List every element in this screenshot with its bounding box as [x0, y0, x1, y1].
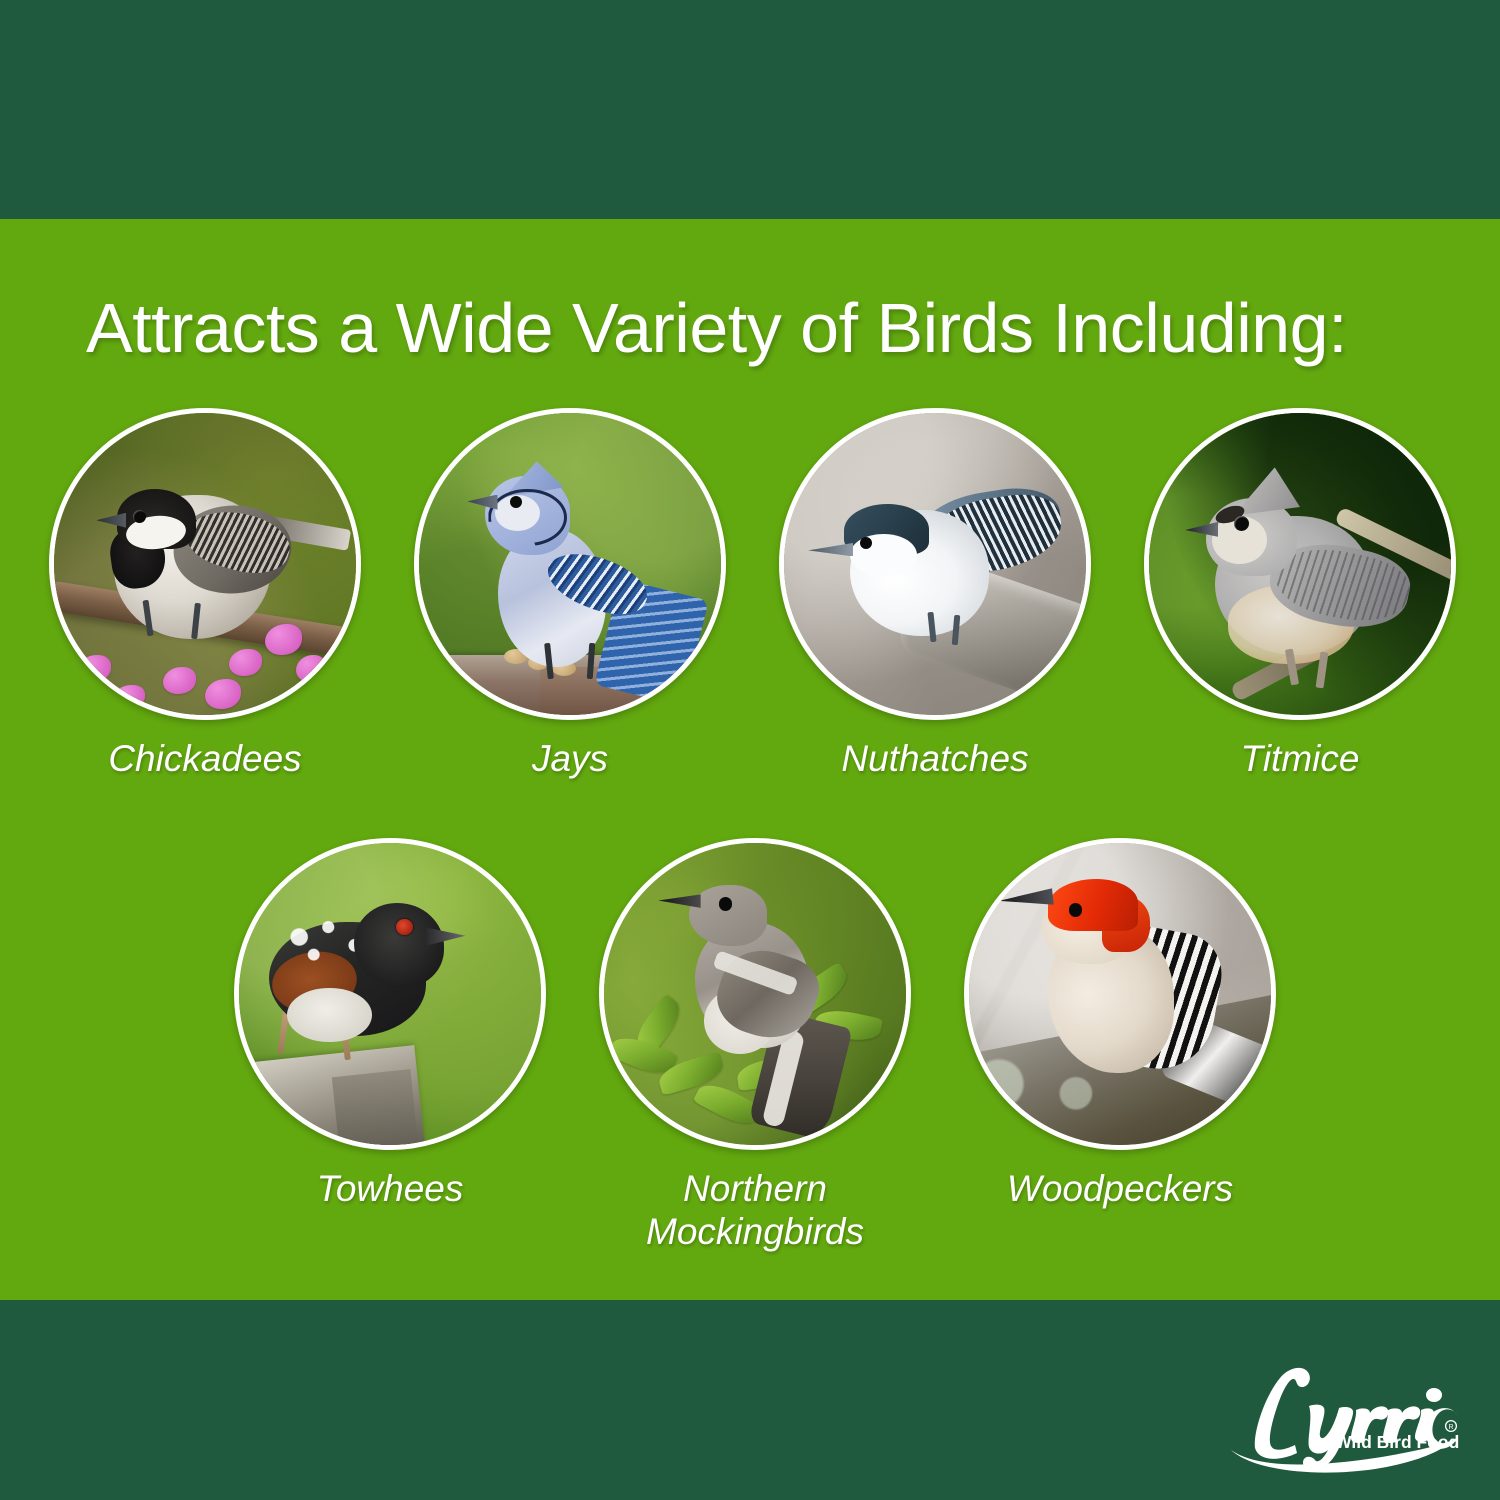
- mockingbird-label-line2: Mockingbirds: [646, 1211, 864, 1252]
- woodpecker-photo: [969, 843, 1271, 1145]
- chickadee-photo: [54, 413, 356, 715]
- bird-card-nuthatches: Nuthatches: [770, 408, 1100, 781]
- titmouse-photo: [1149, 413, 1451, 715]
- bird-label-woodpeckers: Woodpeckers: [955, 1168, 1285, 1211]
- bird-card-titmice: Titmice: [1135, 408, 1465, 781]
- bird-card-chickadees: Chickadees: [40, 408, 370, 781]
- chickadee-circle: [49, 408, 361, 720]
- towhee-photo: [239, 843, 541, 1145]
- mockingbird-photo: [604, 843, 906, 1145]
- bird-label-mockingbirds: NorthernMockingbirds: [590, 1168, 920, 1254]
- nuthatch-photo: [784, 413, 1086, 715]
- bird-label-jays: Jays: [405, 738, 735, 781]
- bird-label-titmice: Titmice: [1135, 738, 1465, 781]
- bird-label-nuthatches: Nuthatches: [770, 738, 1100, 781]
- nuthatch-circle: [779, 408, 1091, 720]
- blue-jay-circle: [414, 408, 726, 720]
- bird-grid: Chickadees: [0, 0, 1500, 1500]
- bird-card-jays: Jays: [405, 408, 735, 781]
- bird-card-mockingbirds: NorthernMockingbirds: [590, 838, 920, 1254]
- product-infographic: Attracts a Wide Variety of Birds Includi…: [0, 0, 1500, 1500]
- towhee-circle: [234, 838, 546, 1150]
- mockingbird-label-line1: Northern: [683, 1168, 827, 1209]
- bird-label-towhees: Towhees: [225, 1168, 555, 1211]
- titmouse-circle: [1144, 408, 1456, 720]
- woodpecker-circle: [964, 838, 1276, 1150]
- bird-label-chickadees: Chickadees: [40, 738, 370, 781]
- svg-text:R: R: [1448, 1424, 1453, 1431]
- bird-card-towhees: Towhees: [225, 838, 555, 1211]
- logo-tagline: Wild Bird Food: [1335, 1432, 1459, 1452]
- registered-trademark-icon: R: [1446, 1421, 1457, 1432]
- lyric-brand-logo: R Wild Bird Food: [1225, 1362, 1460, 1478]
- bird-card-woodpeckers: Woodpeckers: [955, 838, 1285, 1211]
- blue-jay-photo: [419, 413, 721, 715]
- mockingbird-circle: [599, 838, 911, 1150]
